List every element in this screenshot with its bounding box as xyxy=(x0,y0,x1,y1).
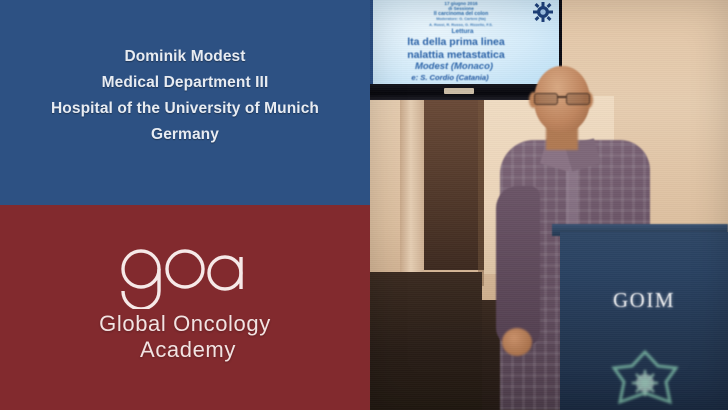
lecture-photo: 17 giugno 2016 di Sessione Il carcinoma … xyxy=(370,0,728,410)
glasses-lens-right xyxy=(566,93,590,105)
wall-corner xyxy=(478,96,484,286)
gear-icon xyxy=(533,2,553,22)
star-crest-icon xyxy=(608,350,682,408)
goa-logo: Global Oncology Academy xyxy=(0,243,370,363)
goa-wordmark: Global Oncology Academy xyxy=(0,311,370,363)
person-arm xyxy=(496,186,540,346)
person-hand xyxy=(502,328,532,356)
glasses-bridge xyxy=(557,96,567,98)
wall-lower-left xyxy=(370,272,482,410)
podium-label: GOIM xyxy=(560,288,728,313)
slide-title-line-1: lta della prima linea xyxy=(370,36,556,49)
slide-title: lta della prima linea nalattia metastati… xyxy=(370,36,556,62)
glasses-lens-left xyxy=(534,93,558,105)
speaker-credentials: Dominik Modest Medical Department III Ho… xyxy=(0,44,370,148)
podium: GOIM xyxy=(560,232,728,410)
goa-line-1: Global Oncology xyxy=(0,311,370,337)
video-frame: Dominik Modest Medical Department III Ho… xyxy=(0,0,728,410)
speaker-institution: Hospital of the University of Munich xyxy=(0,96,370,122)
speaker-department: Medical Department III xyxy=(0,70,370,96)
screen-bezel-notch xyxy=(444,88,474,94)
door-opening xyxy=(424,100,484,270)
goa-line-2: Academy xyxy=(0,337,370,363)
title-panel: Dominik Modest Medical Department III Ho… xyxy=(0,0,370,410)
speaker-country: Germany xyxy=(0,122,370,148)
slide-section-label: Lettura xyxy=(370,28,555,35)
slide-header: 17 giugno 2016 di Sessione Il carcinoma … xyxy=(376,1,546,28)
speaker-name: Dominik Modest xyxy=(0,44,370,70)
goa-logomark-icon xyxy=(115,243,255,309)
glasses-icon xyxy=(533,93,591,103)
